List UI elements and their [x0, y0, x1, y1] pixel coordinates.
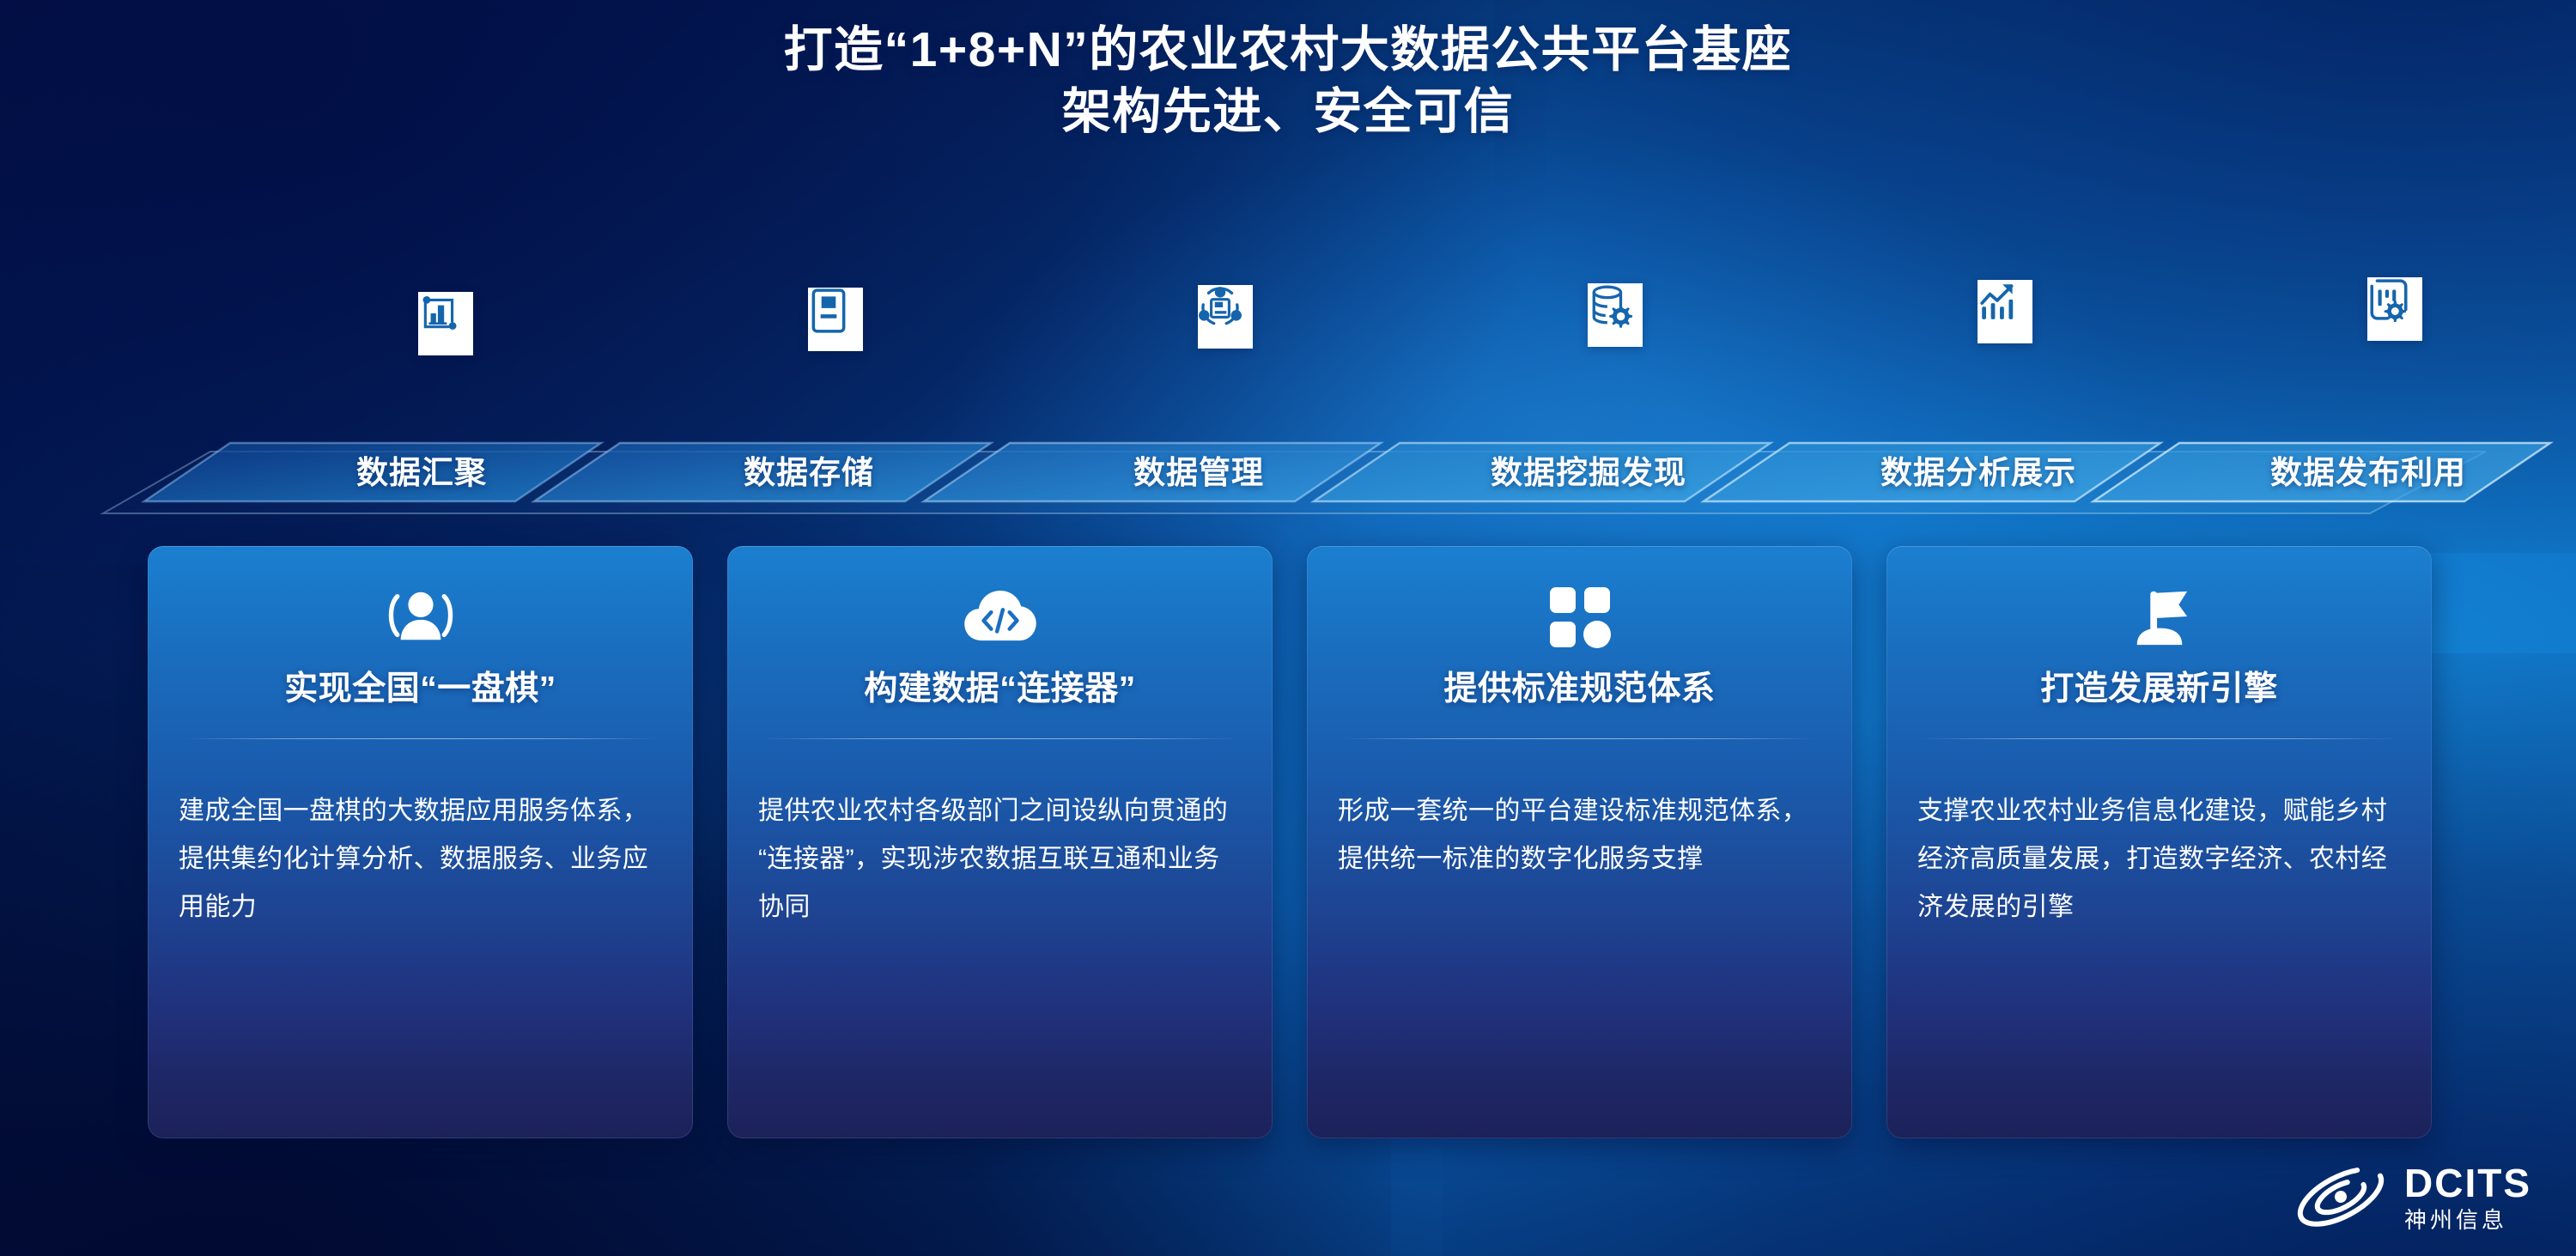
stage-label-2[interactable]: 数据存储 — [744, 446, 874, 493]
feature-card-title: 提供标准规范体系 — [1336, 668, 1823, 738]
data-management-nodes-icon — [1198, 285, 1253, 349]
stage-flow-ribbon: 数据汇聚 数据存储 数据管理 数据挖掘发现 数据分析展示 数据发布利用 — [0, 256, 2576, 539]
feature-card-title: 实现全国“一盘棋” — [177, 668, 664, 738]
stage-label-1[interactable]: 数据汇聚 — [356, 446, 487, 493]
logo-name: DCITS — [2404, 1163, 2531, 1203]
card-divider — [182, 738, 659, 739]
feature-card[interactable]: 提供标准规范体系 形成一套统一的平台建设标准规范体系，提供统一标准的数字化服务支… — [1307, 546, 1852, 1138]
flag-hill-icon — [1916, 580, 2403, 654]
cloud-code-icon — [756, 580, 1243, 654]
feature-card-list: 实现全国“一盘棋” 建成全国一盘棋的大数据应用服务体系，提供集约化计算分析、数据… — [148, 546, 2432, 1138]
feature-card-description: 提供农业农村各级部门之间设纵向贯通的“连接器”，实现涉农数据互联互通和业务协同 — [756, 787, 1243, 931]
dcits-swirl-logo — [2293, 1156, 2389, 1237]
card-divider — [762, 738, 1238, 739]
feature-card[interactable]: 实现全国“一盘棋” 建成全国一盘棋的大数据应用服务体系，提供集约化计算分析、数据… — [148, 546, 693, 1138]
card-divider — [1921, 738, 2397, 739]
feature-card-description: 建成全国一盘棋的大数据应用服务体系，提供集约化计算分析、数据服务、业务应用能力 — [177, 787, 664, 931]
stage-label-5[interactable]: 数据分析展示 — [1880, 446, 2076, 493]
card-divider — [1341, 738, 1818, 739]
stage-label-3[interactable]: 数据管理 — [1133, 446, 1264, 493]
title-line-1: 打造“1+8+N”的农业农村大数据公共平台基座 — [0, 19, 2576, 81]
stage-label-6[interactable]: 数据发布利用 — [2270, 446, 2466, 493]
bar-chart-frame-icon — [418, 292, 473, 355]
publish-gear-icon — [2367, 277, 2422, 341]
feature-card-description: 支撑农业农村业务信息化建设，赋能乡村经济高质量发展，打造数字经济、农村经济发展的… — [1916, 787, 2403, 931]
people-group-icon — [177, 580, 664, 654]
dcits-logo: DCITS 神州信息 — [2293, 1156, 2531, 1237]
database-gear-icon — [1588, 283, 1643, 347]
feature-card-title: 构建数据“连接器” — [756, 668, 1243, 738]
storage-device-icon — [808, 288, 863, 351]
feature-card-description: 形成一套统一的平台建设标准规范体系，提供统一标准的数字化服务支撑 — [1336, 787, 1823, 883]
feature-card[interactable]: 构建数据“连接器” 提供农业农村各级部门之间设纵向贯通的“连接器”，实现涉农数据… — [727, 546, 1273, 1138]
feature-card-title: 打造发展新引擎 — [1916, 668, 2403, 738]
title-line-2: 架构先进、安全可信 — [0, 81, 2576, 143]
feature-card[interactable]: 打造发展新引擎 支撑农业农村业务信息化建设，赋能乡村经济高质量发展，打造数字经济… — [1886, 546, 2432, 1138]
ribbon-shapes — [0, 256, 2576, 539]
stage-label-4[interactable]: 数据挖掘发现 — [1491, 446, 1686, 493]
page-title: 打造“1+8+N”的农业农村大数据公共平台基座 架构先进、安全可信 — [0, 19, 2576, 143]
logo-subtitle: 神州信息 — [2404, 1209, 2531, 1231]
analytics-trend-icon — [1978, 280, 2032, 343]
four-blocks-icon — [1336, 580, 1823, 654]
